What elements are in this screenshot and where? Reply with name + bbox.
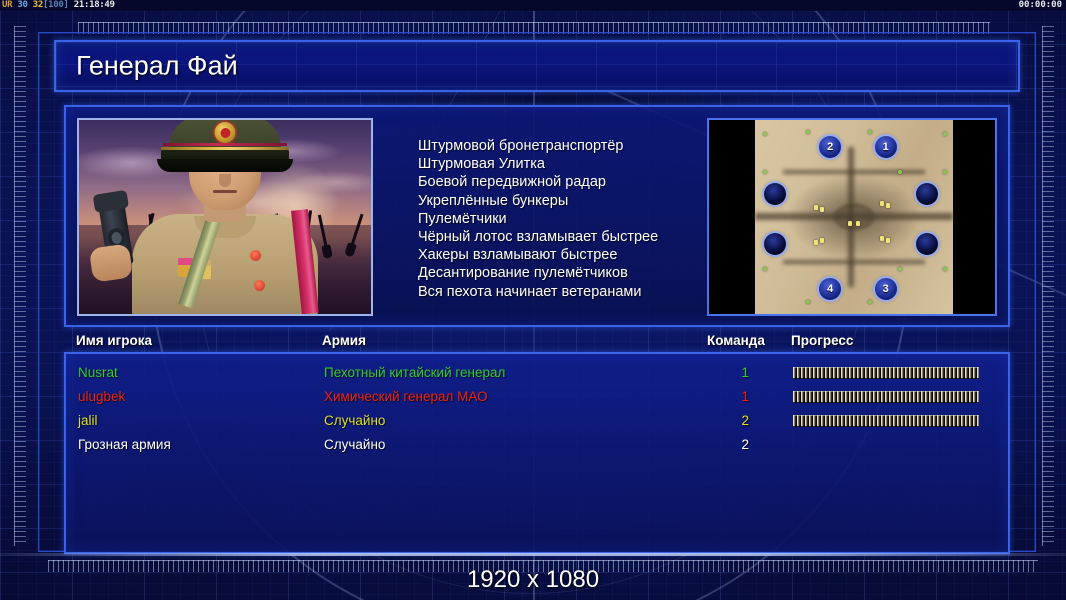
map-preview[interactable]: 2143 <box>707 118 997 316</box>
map-oil-derrick-icon <box>820 238 824 243</box>
cell-team[interactable]: 2 <box>709 409 749 433</box>
map-start-position-empty <box>916 183 938 205</box>
column-header-team: Команда <box>707 333 765 348</box>
general-hand <box>89 243 133 282</box>
map-supply-icon <box>763 267 767 271</box>
map-supply-icon <box>806 300 810 304</box>
ability-item: Пулемётчики <box>418 210 748 228</box>
general-portrait <box>77 118 373 316</box>
cell-team[interactable]: 1 <box>709 385 749 409</box>
map-oil-derrick-icon <box>856 221 860 226</box>
cell-team[interactable]: 2 <box>709 433 749 457</box>
ability-item: Боевой передвижной радар <box>418 173 748 191</box>
player-table-headers: Имя игрока Армия Команда Прогресс <box>64 333 1010 353</box>
map-oil-derrick-icon <box>820 207 824 212</box>
game-lobby-screen: UR 30 32[100] 21:18:49 00:00:00 Генерал … <box>0 0 1066 600</box>
ability-item: Хакеры взламывают быстрее <box>418 246 748 264</box>
military-cap <box>169 118 281 156</box>
map-ridge-horizontal <box>783 170 926 174</box>
column-header-progress: Прогресс <box>791 333 853 348</box>
cell-player-name: ulugbek <box>78 385 125 409</box>
cell-army[interactable]: Пехотный китайский генерал <box>324 361 505 385</box>
page-title: Генерал Фай <box>76 51 238 82</box>
general-uniform <box>132 214 318 316</box>
table-row[interactable]: Грозная армияСлучайно2 <box>66 433 1008 457</box>
map-supply-icon <box>806 130 810 134</box>
general-info-panel: Штурмовой бронетранспортёр Штурмовая Ули… <box>64 105 1010 327</box>
cell-army[interactable]: Химический генерал МАО <box>324 385 488 409</box>
map-supply-icon <box>868 300 872 304</box>
map-oil-derrick-icon <box>880 236 884 241</box>
shoulder-star <box>250 250 261 261</box>
ability-item: Вся пехота начинает ветеранами <box>418 283 748 301</box>
status-bar: UR 30 32[100] 21:18:49 00:00:00 <box>0 0 1066 11</box>
map-oil-derrick-icon <box>886 238 890 243</box>
resolution-label: 1920 x 1080 <box>0 566 1066 594</box>
ability-item: Чёрный лотос взламывает быстрее <box>418 228 748 246</box>
mouth <box>213 190 237 193</box>
map-oil-derrick-icon <box>886 203 890 208</box>
status-part-percent: [100] <box>43 0 69 10</box>
status-part-label: UR <box>2 0 12 10</box>
table-row[interactable]: jalilСлучайно2 <box>66 409 1008 433</box>
ability-item: Укреплённые бункеры <box>418 192 748 210</box>
map-supply-icon <box>943 267 947 271</box>
status-part-ping: 32 <box>33 0 43 10</box>
table-row[interactable]: ulugbekХимический генерал МАО1 <box>66 385 1008 409</box>
map-supply-icon <box>898 267 902 271</box>
map-ridge-vertical <box>848 147 854 287</box>
ability-item: Десантирование пулемётчиков <box>418 264 748 282</box>
cell-player-name: Грозная армия <box>78 433 171 457</box>
player-list-panel: NusratПехотный китайский генерал1ulugbek… <box>64 352 1010 554</box>
cell-progress-bar <box>793 367 979 379</box>
cell-team[interactable]: 1 <box>709 361 749 385</box>
general-abilities-list: Штурмовой бронетранспортёр Штурмовая Ули… <box>418 137 748 301</box>
column-header-army: Армия <box>322 333 366 348</box>
cap-visor <box>157 159 293 172</box>
title-panel: Генерал Фай <box>54 40 1020 92</box>
cap-gold-stripe <box>161 147 289 150</box>
map-start-position-empty <box>764 183 786 205</box>
map-supply-icon <box>763 170 767 174</box>
status-part-clock: 21:18:49 <box>74 0 115 10</box>
status-bar-timer: 00:00:00 <box>1019 0 1062 11</box>
status-part-fps: 30 <box>17 0 27 10</box>
status-bar-left: UR 30 32[100] 21:18:49 <box>2 0 115 11</box>
map-supply-icon <box>763 132 767 136</box>
cell-army[interactable]: Случайно <box>324 433 385 457</box>
map-oil-derrick-icon <box>814 240 818 245</box>
ability-item: Штурмовая Улитка <box>418 155 748 173</box>
map-supply-icon <box>943 132 947 136</box>
map-start-position-empty <box>764 233 786 255</box>
cell-progress-bar <box>793 415 979 427</box>
cap-red-stripe <box>163 143 287 146</box>
cap-emblem-icon <box>215 122 236 143</box>
map-oil-derrick-icon <box>814 205 818 210</box>
map-ridge-horizontal-2 <box>783 260 926 264</box>
map-start-position-1: 1 <box>875 136 897 158</box>
map-oil-derrick-icon <box>880 201 884 206</box>
map-start-position-4: 4 <box>819 278 841 300</box>
cell-progress-bar <box>793 391 979 403</box>
map-terrain <box>755 120 953 314</box>
column-header-player: Имя игрока <box>76 333 152 348</box>
map-start-position-3: 3 <box>875 278 897 300</box>
cell-player-name: jalil <box>78 409 98 433</box>
map-supply-icon <box>943 170 947 174</box>
ruler-right <box>1042 26 1054 546</box>
ability-item: Штурмовой бронетранспортёр <box>418 137 748 155</box>
cell-player-name: Nusrat <box>78 361 118 385</box>
shoulder-star <box>254 280 265 291</box>
table-row[interactable]: NusratПехотный китайский генерал1 <box>66 361 1008 385</box>
map-oil-derrick-icon <box>848 221 852 226</box>
map-supply-icon <box>868 130 872 134</box>
bottom-divider <box>0 553 1066 556</box>
ruler-left <box>14 26 26 546</box>
cell-army[interactable]: Случайно <box>324 409 385 433</box>
nose <box>219 174 231 187</box>
